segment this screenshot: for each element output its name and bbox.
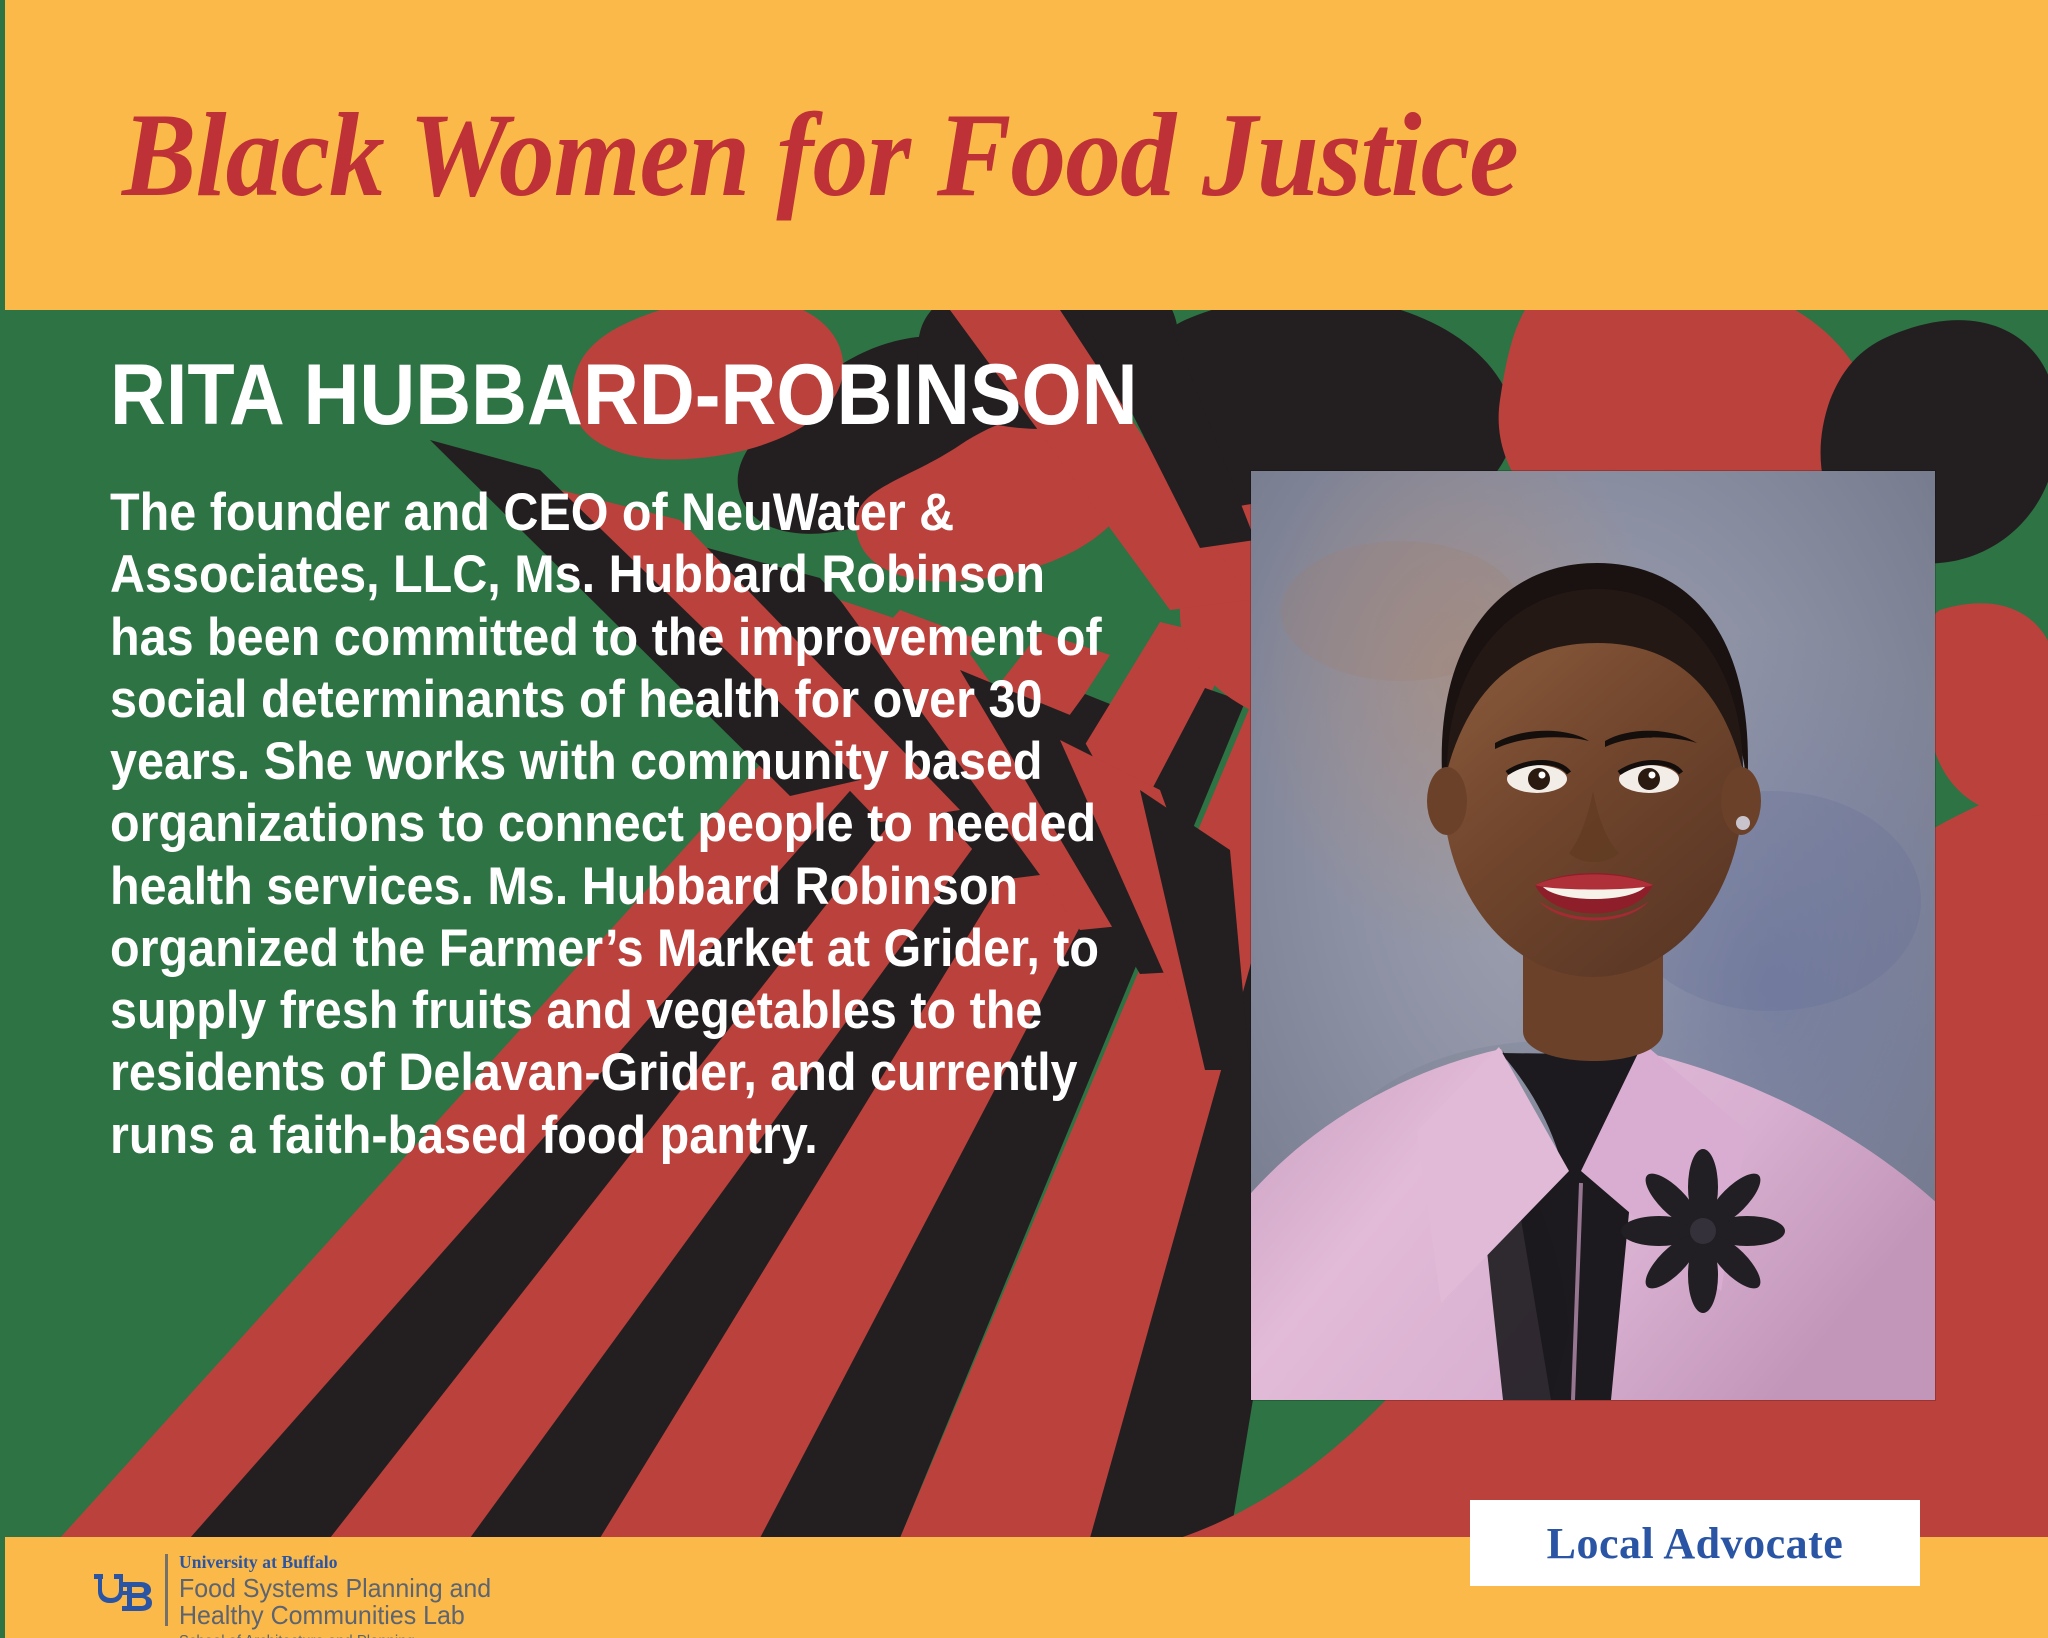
ub-lab-line1: Food Systems Planning and — [179, 1575, 491, 1603]
ub-lab-line2: Healthy Communities Lab — [179, 1602, 491, 1630]
person-bio: The founder and CEO of NeuWater & Associ… — [110, 482, 1107, 1167]
status-badge-label: Local Advocate — [1547, 1518, 1844, 1569]
ub-logo-text: University at Buffalo Food Systems Plann… — [179, 1554, 504, 1638]
header-band: Black Women for Food Justice — [4, 0, 2048, 310]
ub-school-label: School of Architecture and Planning — [179, 1634, 491, 1638]
person-name: RITA HUBBARD-ROBINSON — [110, 352, 1118, 438]
logo-divider — [165, 1554, 168, 1626]
status-badge: Local Advocate — [1470, 1500, 1920, 1586]
portrait-photo — [1251, 471, 1935, 1400]
ub-monogram-icon — [92, 1568, 156, 1614]
poster: Black Women for Food Justice RITA HUBBAR… — [0, 0, 2048, 1638]
page-title: Black Women for Food Justice — [122, 95, 1518, 215]
ub-logo-group: University at Buffalo Food Systems Plann… — [92, 1554, 504, 1638]
left-edge-rail — [0, 0, 5, 1638]
profile-content: RITA HUBBARD-ROBINSON The founder and CE… — [110, 352, 1230, 1167]
ub-university-label: University at Buffalo — [179, 1554, 504, 1572]
